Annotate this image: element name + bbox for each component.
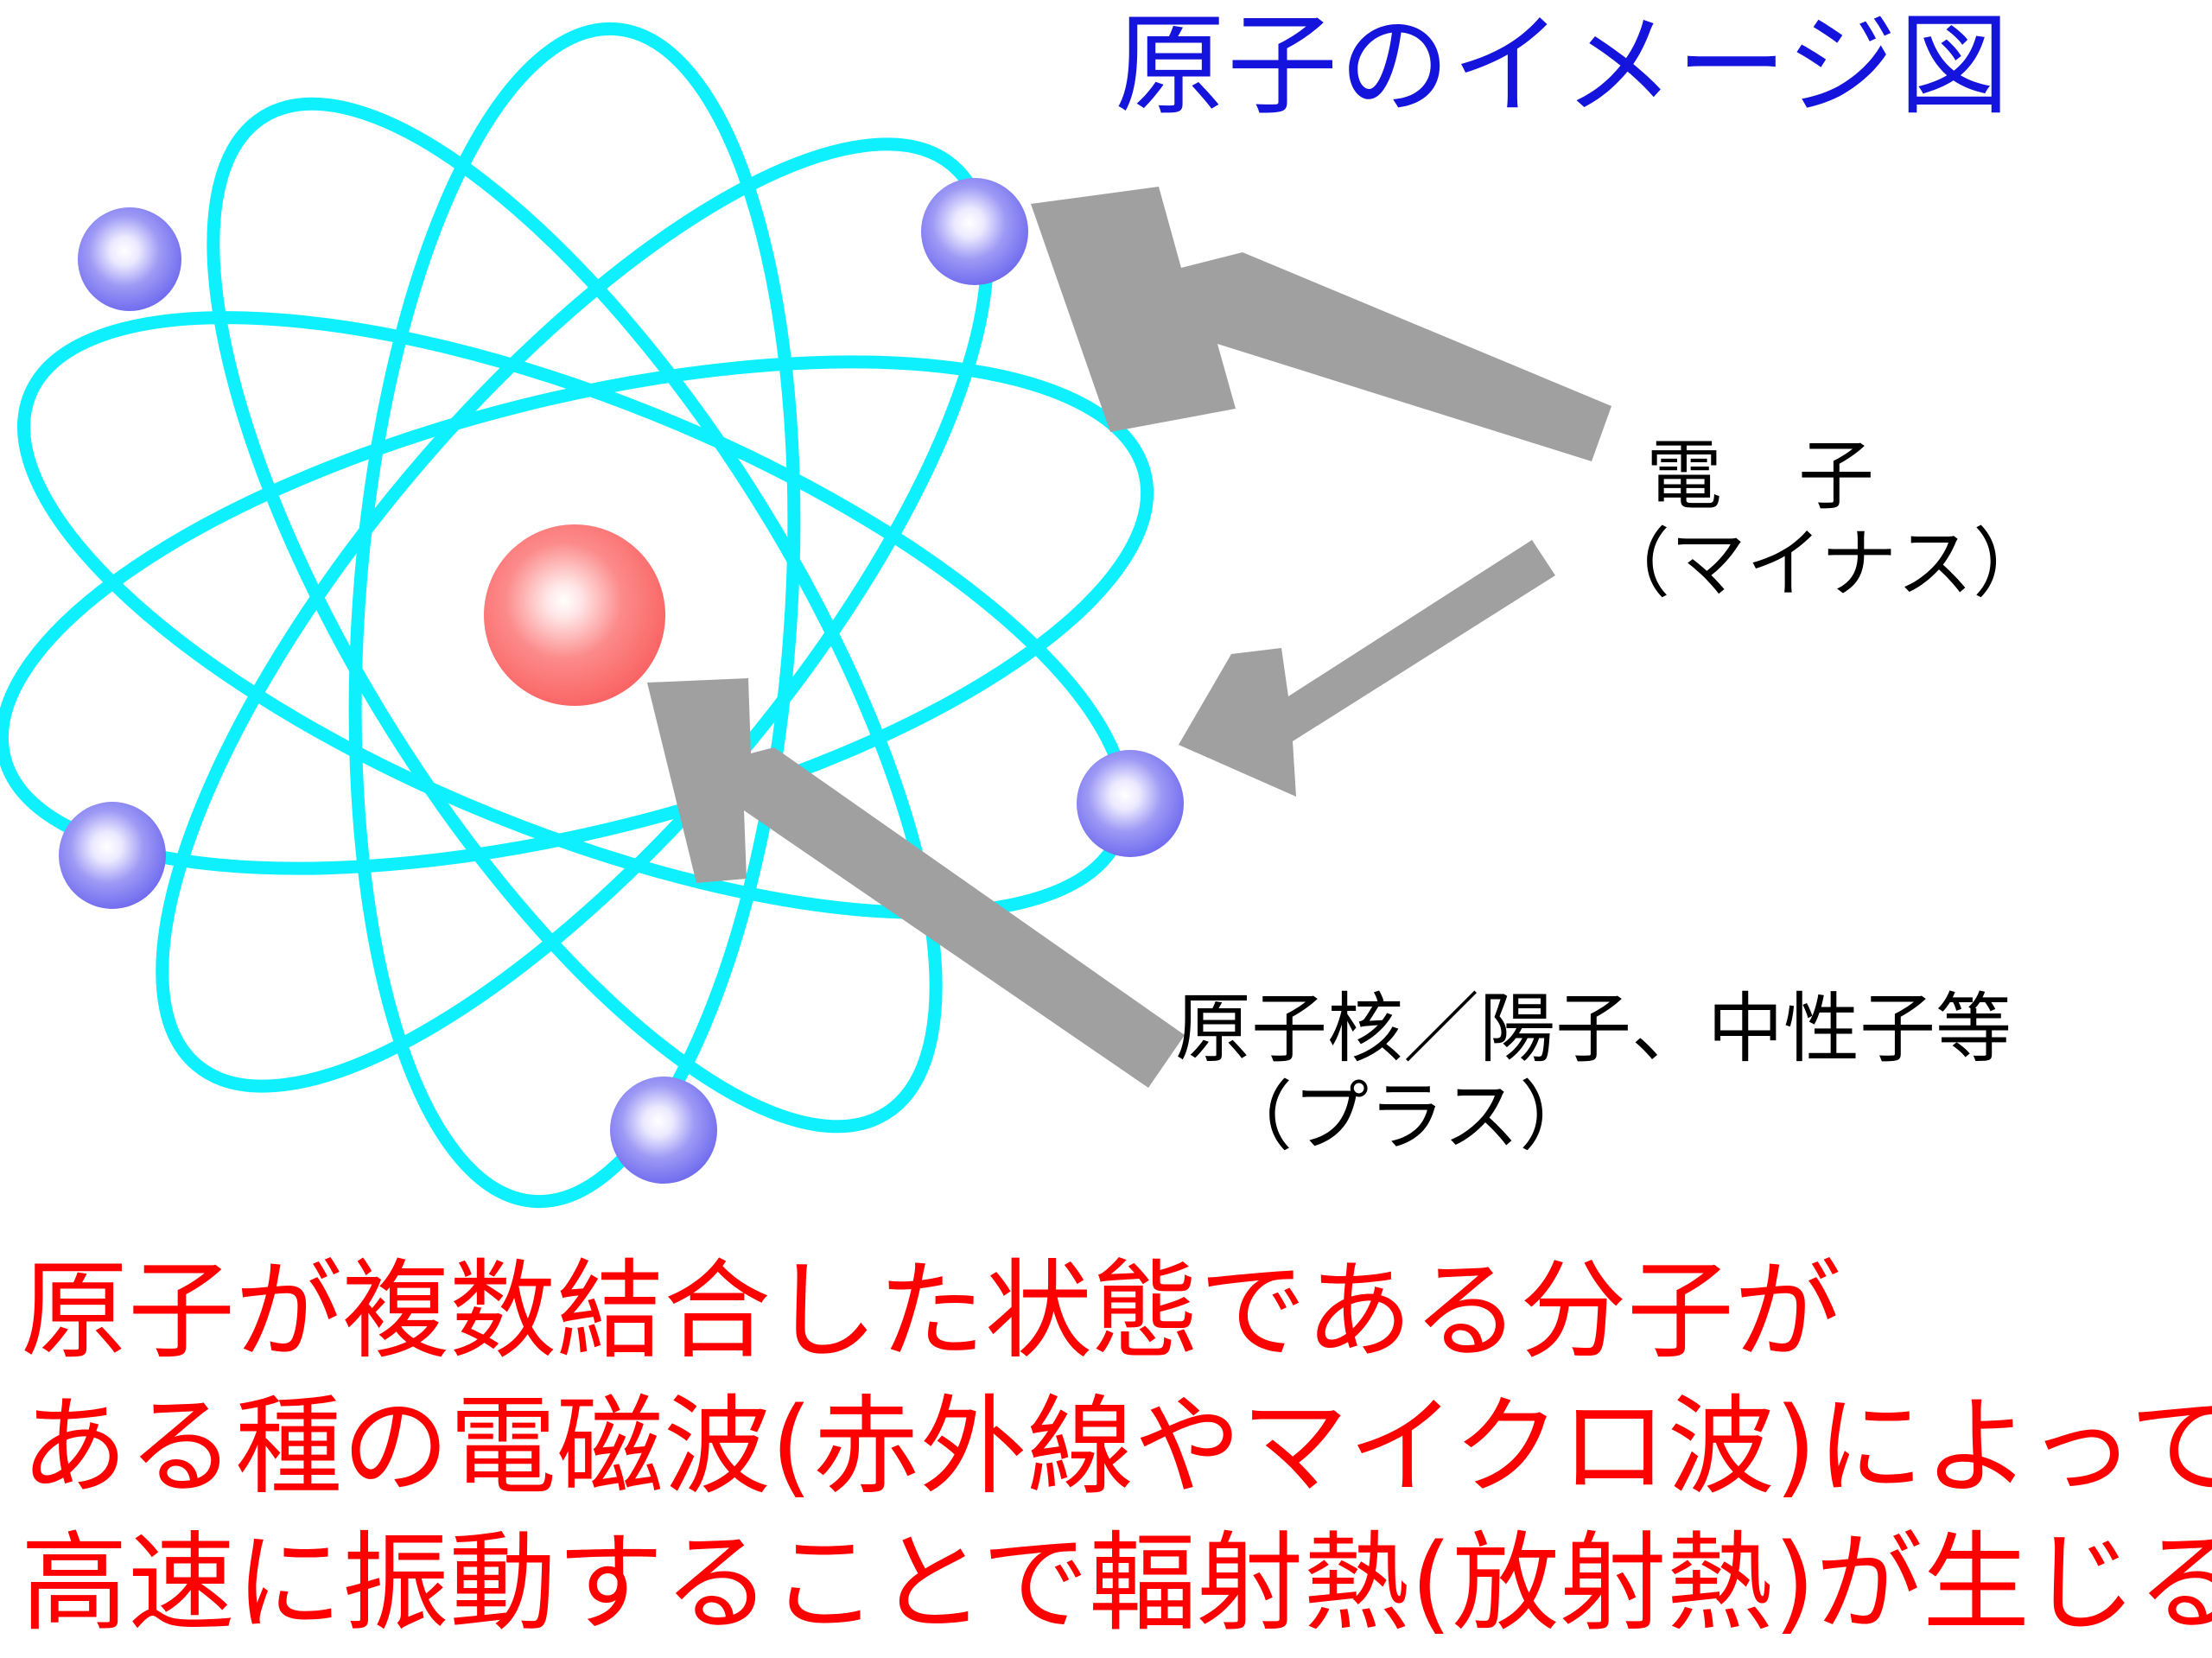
electron-right — [1077, 750, 1184, 857]
electron-bottom — [610, 1077, 717, 1184]
bottom-note-line1: 原子が複数結合した状態である分子が — [21, 1244, 2207, 1380]
electron-top-right — [921, 178, 1028, 285]
label-electron: 電 子 （マイナス） — [1594, 432, 2049, 608]
label-nucleus-line2: （プラス） — [1175, 1073, 2012, 1161]
nucleus-sphere — [484, 524, 665, 706]
slide-canvas: 原子のイメージ図 電 子 （マイナス） 原子核／陽子、中性子等 （プラス） 原子… — [0, 0, 2212, 1658]
label-nucleus-line1: 原子核／陽子、中性子等 — [1175, 985, 2012, 1073]
bottom-note-line2: ある種の電磁波(赤外線やマイクロ波)によって — [21, 1380, 2207, 1515]
electron-left — [59, 802, 166, 909]
atom-diagram — [0, 0, 1253, 1227]
bottom-note-line3: 高速に振動することで輻射熱(放射熱)が生じる — [21, 1516, 2207, 1652]
label-electron-line2: （マイナス） — [1594, 520, 2049, 608]
label-nucleus: 原子核／陽子、中性子等 （プラス） — [1175, 985, 2012, 1161]
bottom-note: 原子が複数結合した状態である分子が ある種の電磁波(赤外線やマイクロ波)によって… — [21, 1244, 2207, 1652]
electron-top-left — [78, 207, 181, 311]
label-electron-line1: 電 子 — [1594, 432, 2049, 520]
page-title: 原子のイメージ図 — [1115, 9, 2011, 124]
